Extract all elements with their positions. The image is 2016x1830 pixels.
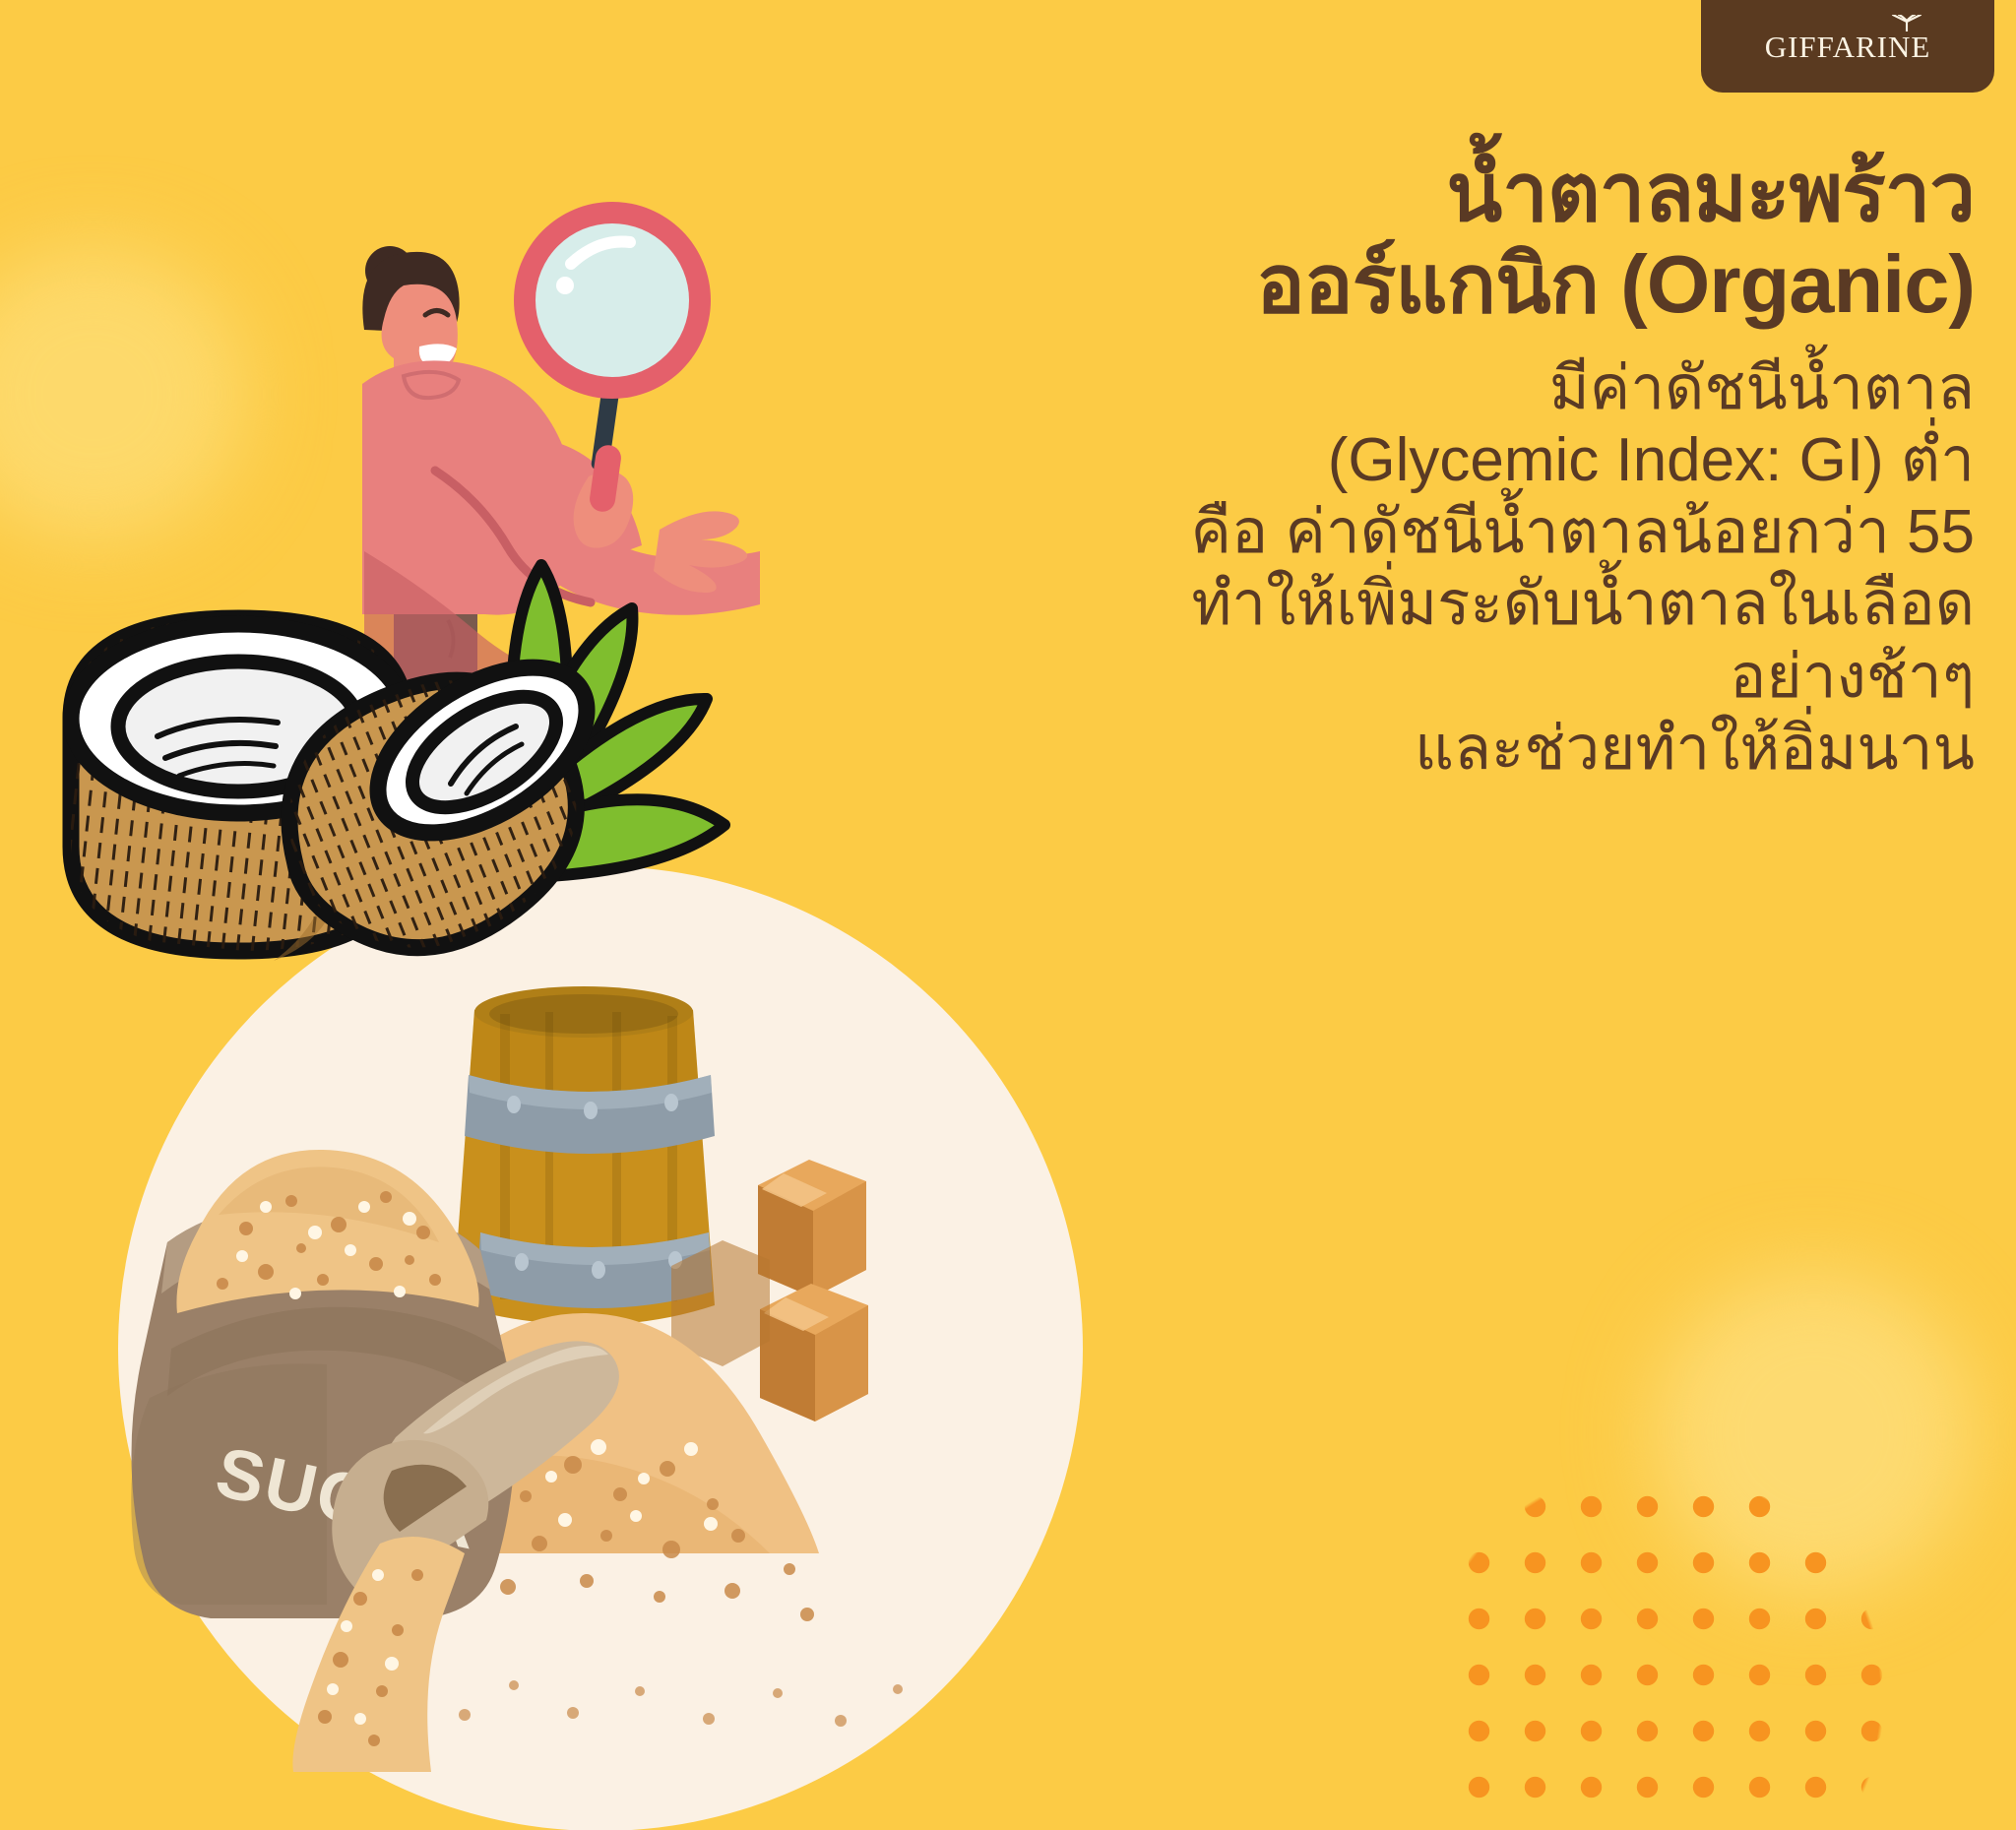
body-line-2: (Glycemic Index: GI) ต่ำ — [961, 424, 1975, 496]
brand-logo-text: GIFFARINE — [1765, 32, 1931, 62]
lens-highlight-dot — [556, 277, 574, 294]
body-line-4: ทำให้เพิ่มระดับน้ำตาลในเลือด — [961, 568, 1975, 640]
body-line-5: อย่างช้าๆ — [961, 641, 1975, 713]
sugar-still-life-illustration: SUGAR — [128, 886, 1073, 1772]
body-copy: มีค่าดัชนีน้ำตาล (Glycemic Index: GI) ต่… — [961, 352, 1975, 785]
body-line-1: มีค่าดัชนีน้ำตาล — [961, 352, 1975, 424]
page-title: น้ำตาลมะพร้าว ออร์แกนิก (Organic) — [961, 148, 1975, 331]
body-line-3: คือ ค่าดัชนีน้ำตาลน้อยกว่า 55 — [961, 496, 1975, 568]
sugar-sack: SUGAR — [131, 1150, 515, 1618]
content-text-column: น้ำตาลมะพร้าว ออร์แกนิก (Organic) มีค่าด… — [961, 148, 1975, 785]
brand-logo-box[interactable]: GIFFARINE — [1701, 0, 1994, 93]
headline-line-2: ออร์แกนิก (Organic) — [961, 239, 1975, 331]
palm-crown-icon — [1889, 15, 1924, 32]
scattered-grains — [459, 1680, 903, 1727]
illustration-group: SUGAR — [0, 0, 1083, 1830]
sweater-collar — [404, 372, 459, 398]
headline-line-1: น้ำตาลมะพร้าว — [961, 148, 1975, 239]
orange-dot-grid-pattern — [1445, 1417, 1898, 1830]
body-line-6: และช่วยทำให้อิ่มนาน — [961, 713, 1975, 785]
poster-canvas: SUGAR — [0, 0, 2016, 1830]
